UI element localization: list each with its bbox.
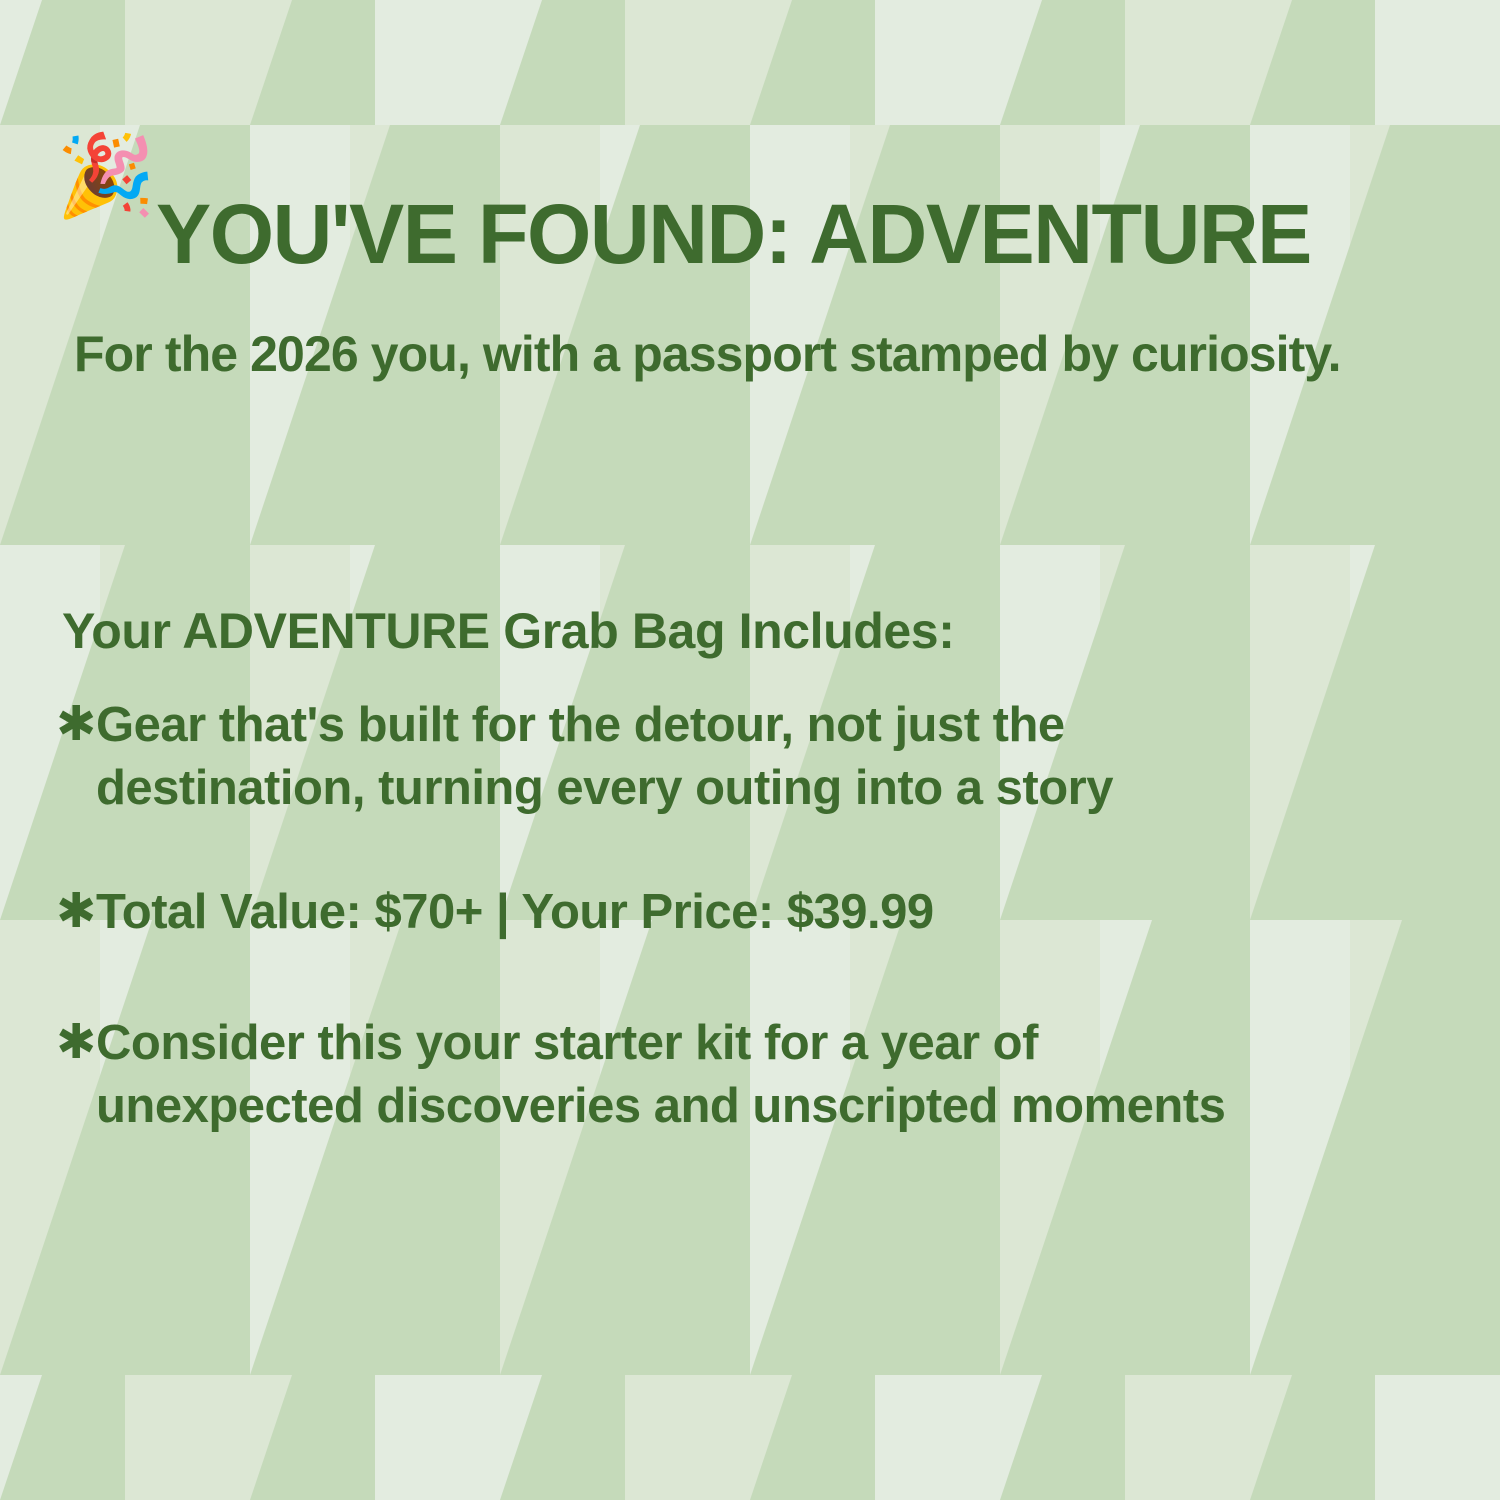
- list-item: ✱ Total Value: $70+ | Your Price: $39.99: [56, 881, 1460, 944]
- page-title: YOU'VE FOUND: ADVENTURE: [156, 192, 1311, 276]
- headline: 🎉 YOU'VE FOUND: ADVENTURE: [56, 136, 1470, 333]
- asterisk-bullet-icon: ✱: [56, 881, 96, 942]
- list-item: ✱ Gear that's built for the detour, not …: [56, 694, 1460, 819]
- feature-list: ✱ Gear that's built for the detour, not …: [56, 694, 1460, 1200]
- list-item-label: Gear that's built for the detour, not ju…: [96, 694, 1281, 819]
- poster-content: 🎉 YOU'VE FOUND: ADVENTURE For the 2026 y…: [0, 0, 1500, 1500]
- section-heading: Your ADVENTURE Grab Bag Includes:: [62, 604, 954, 659]
- party-popper-icon: 🎉: [56, 136, 156, 216]
- asterisk-bullet-icon: ✱: [56, 1012, 96, 1073]
- list-item: ✱ Consider this your starter kit for a y…: [56, 1012, 1460, 1137]
- list-item-label: Consider this your starter kit for a yea…: [96, 1012, 1281, 1137]
- asterisk-bullet-icon: ✱: [56, 694, 96, 755]
- pricing-label: Total Value: $70+ | Your Price: $39.99: [96, 881, 934, 944]
- promo-poster: 🎉 YOU'VE FOUND: ADVENTURE For the 2026 y…: [0, 0, 1500, 1500]
- subtitle: For the 2026 you, with a passport stampe…: [74, 327, 1341, 382]
